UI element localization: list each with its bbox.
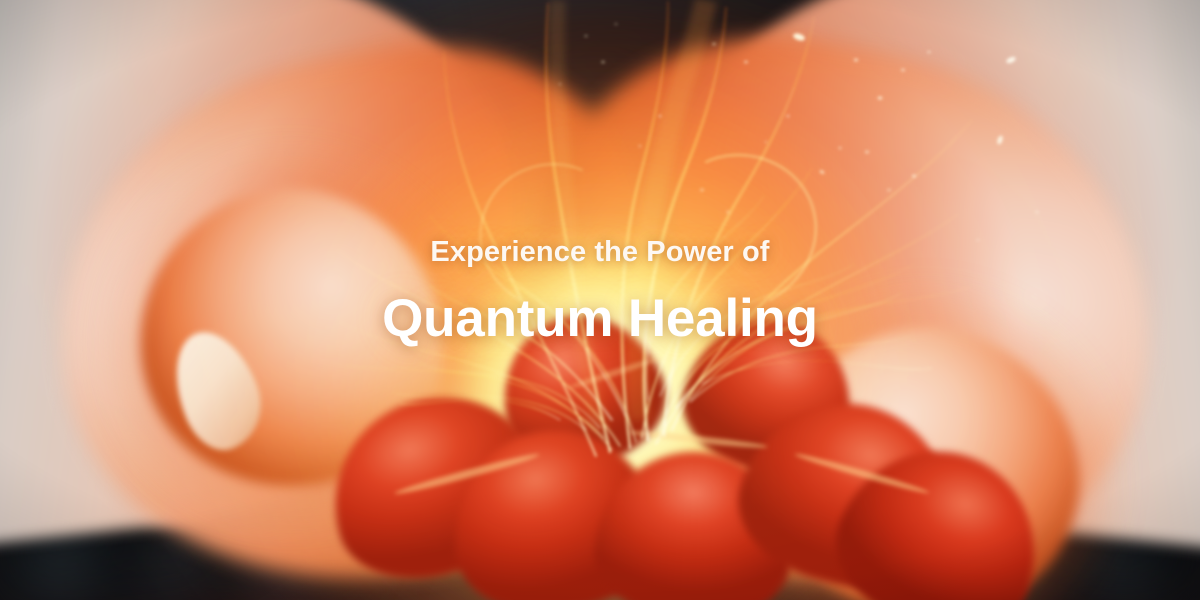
page-title: Quantum Healing xyxy=(0,288,1200,349)
hero-eyebrow: Experience the Power of xyxy=(0,236,1200,269)
spark-particle-icon xyxy=(559,23,1039,241)
hero-copy: Experience the Power of Quantum Healing xyxy=(0,236,1200,349)
hero-banner: Experience the Power of Quantum Healing xyxy=(0,0,1200,600)
